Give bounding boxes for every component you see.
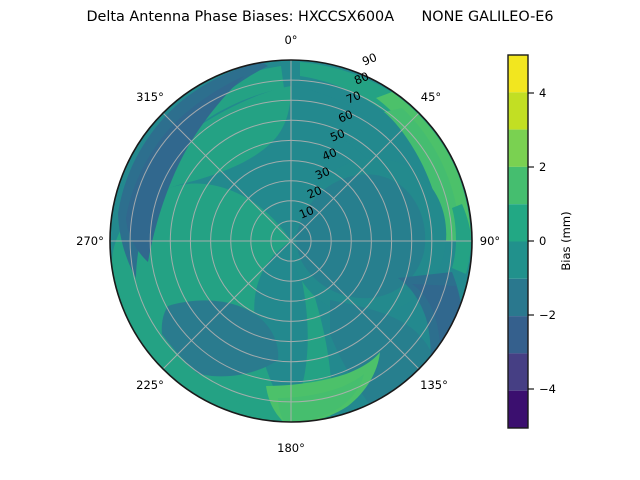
colorbar-band-1 [508, 353, 528, 390]
colorbar-band-6 [508, 167, 528, 204]
colorbar-ticks [528, 93, 534, 389]
colorbar-tick-labels: 4 2 0 −2 −4 [539, 86, 556, 396]
colorbar-band-7 [508, 130, 528, 167]
colorbar-tick-2: 2 [539, 160, 546, 174]
colorbar-tick-0: 0 [539, 234, 546, 248]
colorbar-tick-4: 4 [539, 86, 546, 100]
figure-canvas: Delta Antenna Phase Biases: HXCCSX600A N… [0, 0, 640, 480]
colorbar-band-0 [508, 391, 528, 428]
colorbar-band-9 [508, 55, 528, 92]
colorbar-band-5 [508, 204, 528, 241]
colorbar-band-8 [508, 92, 528, 129]
colorbar-axis-label: Bias (mm) [559, 211, 573, 270]
colorbar-band-2 [508, 316, 528, 353]
colorbar-bands [508, 55, 528, 428]
colorbar-band-4 [508, 242, 528, 279]
colorbar[interactable]: 4 2 0 −2 −4 Bias (mm) [0, 0, 640, 480]
colorbar-tick-neg4: −4 [539, 382, 556, 396]
colorbar-band-3 [508, 279, 528, 316]
colorbar-tick-neg2: −2 [539, 308, 556, 322]
